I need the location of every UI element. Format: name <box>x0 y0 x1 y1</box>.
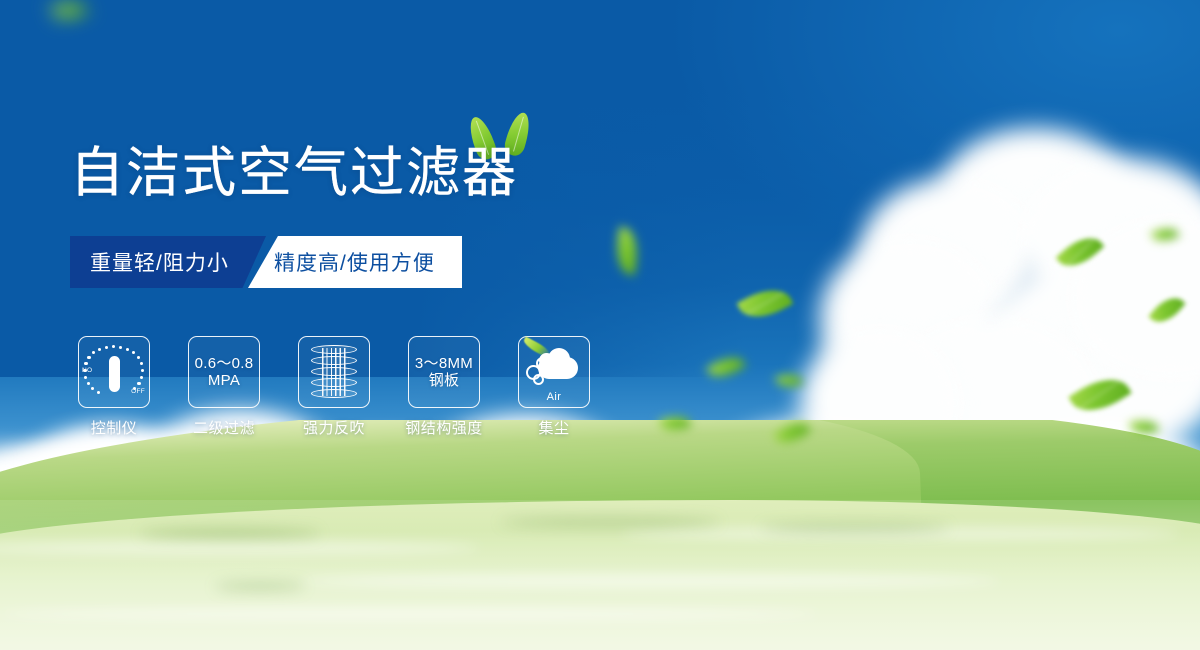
feature-icon-box: Air <box>518 336 590 408</box>
feature-item-backblow[interactable]: 强力反吹 <box>298 336 370 438</box>
gauge-needle-icon <box>109 356 120 392</box>
pressure-icon: 0.6〜0.8 MPA <box>195 355 254 389</box>
steel-value-line2: 钢板 <box>415 372 473 389</box>
feature-label: 钢结构强度 <box>405 417 483 438</box>
feature-label: 二级过滤 <box>193 417 255 438</box>
page-title: 自洁式空气过滤器 <box>70 146 518 200</box>
steel-plate-icon: 3〜8MM 钢板 <box>415 355 473 389</box>
filter-stack-icon <box>311 345 357 399</box>
feature-label: 强力反吹 <box>303 417 365 438</box>
subtitle-right-panel: 精度高/使用方便 <box>248 236 462 288</box>
subtitle-bar: 重量轻/阻力小 精度高/使用方便 <box>70 236 462 288</box>
feature-icon-box: 0.6〜0.8 MPA <box>188 336 260 408</box>
air-cloud-icon: Air <box>524 343 584 401</box>
subtitle-left-panel: 重量轻/阻力小 <box>70 236 266 288</box>
gauge-icon: NO OFF <box>83 341 145 403</box>
steel-value-line1: 3〜8MM <box>415 355 473 372</box>
feature-item-dust-collection[interactable]: Air 集尘 <box>518 336 590 438</box>
grass-field <box>0 420 1200 650</box>
feature-icon-box: 3〜8MM 钢板 <box>408 336 480 408</box>
feature-item-secondary-filter[interactable]: 0.6〜0.8 MPA 二级过滤 <box>188 336 260 438</box>
feature-icon-list: NO OFF 控制仪 0.6〜0.8 MPA 二级过滤 <box>78 336 590 438</box>
feature-item-controller[interactable]: NO OFF 控制仪 <box>78 336 150 438</box>
feature-icon-box <box>298 336 370 408</box>
feature-item-steel-strength[interactable]: 3〜8MM 钢板 钢结构强度 <box>408 336 480 438</box>
gauge-label-off: OFF <box>131 388 145 395</box>
air-label: Air <box>524 391 584 403</box>
feature-label: 控制仪 <box>91 417 138 438</box>
feature-label: 集尘 <box>538 417 569 438</box>
pressure-value-line1: 0.6〜0.8 <box>195 355 254 372</box>
feature-icon-box: NO OFF <box>78 336 150 408</box>
product-hero-banner: 自洁式空气过滤器 重量轻/阻力小 精度高/使用方便 <box>0 0 1200 650</box>
pressure-value-line2: MPA <box>195 372 254 389</box>
gauge-label-on: NO <box>82 367 92 374</box>
